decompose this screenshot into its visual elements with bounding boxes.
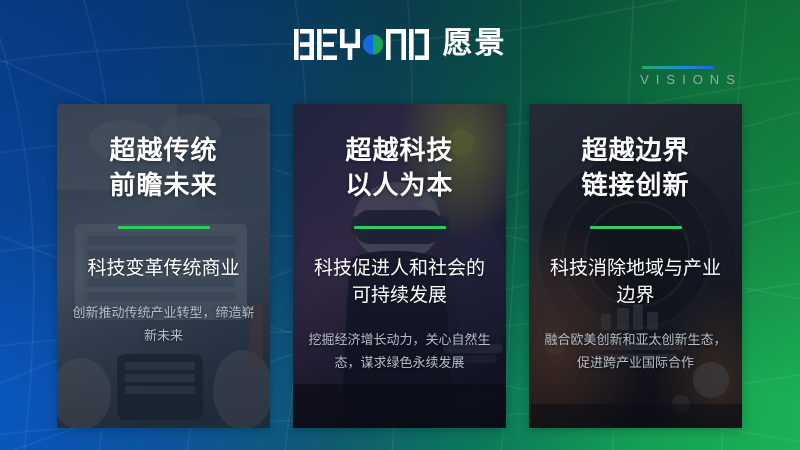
card-content: 超越传统 前瞻未来 科技变革传统商业 创新推动传统产业转型，缔造崭新未来 xyxy=(57,104,270,428)
beyond-wordmark xyxy=(294,27,429,61)
card-subtitle: 科技变革传统商业 xyxy=(71,255,256,282)
card-title-line-1: 超越科技 xyxy=(307,134,492,169)
brand-logo: 愿景 VISIONS xyxy=(0,24,800,94)
gradient-accent-bar xyxy=(642,66,714,69)
card-title-line-2: 链接创新 xyxy=(543,169,728,204)
card-content: 超越边界 链接创新 科技消除地域与产业边界 融合欧美创新和亚太创新生态，促进跨产… xyxy=(529,104,742,428)
card-title-line-1: 超越边界 xyxy=(543,134,728,169)
logo-letter-d xyxy=(409,29,429,60)
card-title-line-2: 前瞻未来 xyxy=(71,169,256,204)
logo-tagline-group: VISIONS xyxy=(576,66,800,87)
feature-card-beyond-tradition[interactable]: 超越传统 前瞻未来 科技变革传统商业 创新推动传统产业转型，缔造崭新未来 xyxy=(57,104,270,428)
card-title-line-2: 以人为本 xyxy=(307,169,492,204)
card-title: 超越传统 前瞻未来 xyxy=(71,134,256,204)
card-divider xyxy=(590,226,682,229)
logo-tagline: VISIONS xyxy=(634,73,742,87)
card-divider xyxy=(118,226,210,229)
logo-letter-o-circle xyxy=(363,29,383,60)
card-title-line-1: 超越传统 xyxy=(71,134,256,169)
card-title: 超越边界 链接创新 xyxy=(543,134,728,204)
feature-card-row: 超越传统 前瞻未来 科技变革传统商业 创新推动传统产业转型，缔造崭新未来 xyxy=(57,104,743,428)
card-subtitle: 科技消除地域与产业边界 xyxy=(543,255,728,309)
card-content: 超越科技 以人为本 科技促进人和社会的可持续发展 挖掘经济增长动力，关心自然生态… xyxy=(293,104,506,428)
feature-card-beyond-boundaries[interactable]: 超越边界 链接创新 科技消除地域与产业边界 融合欧美创新和亚太创新生态，促进跨产… xyxy=(529,104,742,428)
logo-letter-b xyxy=(294,29,314,60)
logo-row: 愿景 xyxy=(294,24,507,64)
card-description: 创新推动传统产业转型，缔造崭新未来 xyxy=(71,302,256,348)
card-description: 挖掘经济增长动力，关心自然生态，谋求绿色永续发展 xyxy=(307,329,492,375)
logo-letter-e xyxy=(317,29,337,60)
card-description: 融合欧美创新和亚太创新生态，促进跨产业国际合作 xyxy=(543,329,728,375)
logo-sub-row: VISIONS xyxy=(0,66,800,87)
logo-letter-y xyxy=(340,29,360,60)
logo-chinese-name: 愿景 xyxy=(443,27,507,61)
feature-card-beyond-technology[interactable]: 超越科技 以人为本 科技促进人和社会的可持续发展 挖掘经济增长动力，关心自然生态… xyxy=(293,104,506,428)
slide-canvas: 愿景 VISIONS xyxy=(0,0,800,450)
card-divider xyxy=(354,226,446,229)
card-subtitle: 科技促进人和社会的可持续发展 xyxy=(307,255,492,309)
card-title: 超越科技 以人为本 xyxy=(307,134,492,204)
logo-letter-n xyxy=(386,29,406,60)
